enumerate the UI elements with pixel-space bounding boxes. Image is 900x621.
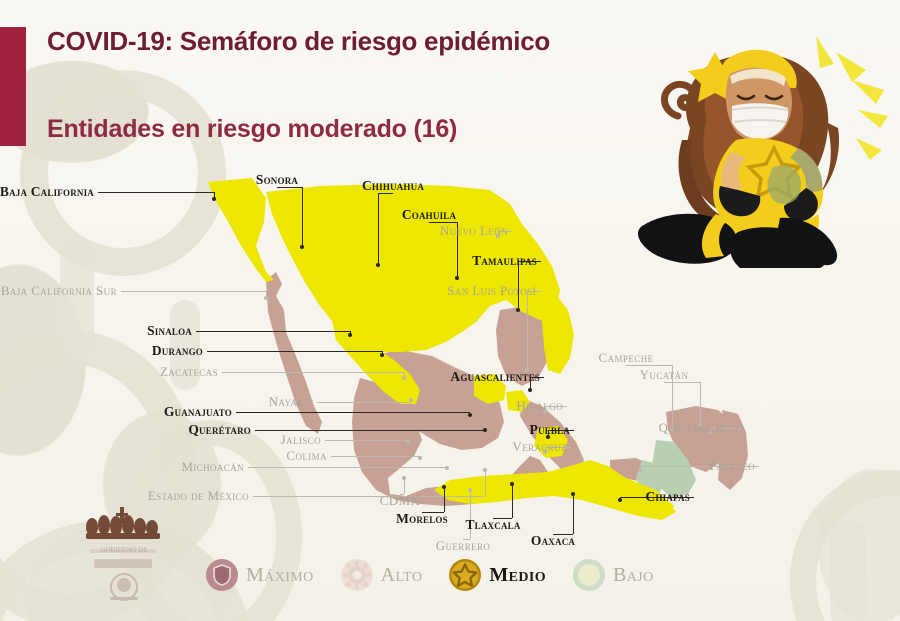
gear-icon bbox=[340, 558, 374, 592]
circle-icon bbox=[572, 558, 606, 592]
state-label-estado-de-mexico: Estado de México bbox=[148, 489, 249, 502]
star-icon bbox=[448, 558, 482, 592]
semaforo-legend: Máximo Alto Medio Bajo bbox=[205, 558, 654, 592]
state-label-nayarit: Nayarit bbox=[269, 395, 313, 408]
state-label-yucatan: Yucatán bbox=[640, 368, 689, 381]
state-label-baja-california-sur: Baja California Sur bbox=[1, 284, 117, 297]
state-label-oaxaca: Oaxaca bbox=[531, 534, 575, 548]
state-label-nuevo-leon: Nuevo León bbox=[440, 224, 508, 237]
state-label-cdmx: CDMX bbox=[380, 494, 421, 507]
legend-label-alto: Alto bbox=[381, 564, 423, 587]
shield-icon bbox=[205, 558, 239, 592]
legend-label-maximo: Máximo bbox=[246, 564, 314, 587]
state-label-baja-california: Baja California bbox=[0, 185, 94, 199]
state-label-puebla: Puebla bbox=[530, 423, 570, 437]
state-label-michoacan: Michoacán bbox=[181, 460, 244, 473]
state-label-jalisco: Jalisco bbox=[281, 433, 321, 446]
legend-item-alto[interactable]: Alto bbox=[340, 558, 423, 592]
state-label-sinaloa: Sinaloa bbox=[147, 324, 192, 338]
state-label-tlaxcala: Tlaxcala bbox=[465, 518, 520, 532]
left-accent-bar bbox=[0, 27, 26, 146]
legend-item-medio[interactable]: Medio bbox=[448, 558, 546, 592]
state-label-guerrero: Guerrero bbox=[436, 539, 491, 552]
page-title: COVID-19: Semáforo de riesgo epidémico bbox=[47, 26, 550, 57]
state-label-morelos: Morelos bbox=[396, 512, 448, 526]
legend-label-bajo: Bajo bbox=[613, 564, 654, 587]
state-label-veracruz: Veracruz bbox=[512, 440, 567, 453]
svg-text:GOBIERNO DE: GOBIERNO DE bbox=[100, 546, 147, 554]
state-label-san-luis-potosi: San Luis Potosí bbox=[447, 284, 536, 297]
state-label-aguascalientes: Aguascalientes bbox=[450, 370, 540, 384]
page-subtitle: Entidades en riesgo moderado (16) bbox=[47, 115, 457, 144]
susana-distancia-character-illustration bbox=[620, 18, 890, 268]
state-label-colima: Colima bbox=[286, 449, 327, 462]
state-label-chihuahua: Chihuahua bbox=[362, 179, 424, 193]
state-label-tamaulipas: Tamaulipas bbox=[472, 254, 537, 268]
state-label-chiapas: Chiapas bbox=[646, 490, 691, 504]
state-label-durango: Durango bbox=[152, 344, 203, 358]
state-label-quintana-roo: Quintana Roo bbox=[659, 421, 738, 434]
state-label-zacatecas: Zacatecas bbox=[160, 365, 218, 378]
legend-item-bajo[interactable]: Bajo bbox=[572, 558, 654, 592]
state-label-guanajuato: Guanajuato bbox=[164, 405, 232, 419]
state-label-campeche: Campeche bbox=[599, 351, 654, 364]
state-label-coahuila: Coahuila bbox=[402, 208, 456, 222]
state-label-tabasco: Tabasco bbox=[708, 459, 755, 472]
legend-label-medio: Medio bbox=[489, 564, 546, 587]
state-label-sonora: Sonora bbox=[256, 173, 298, 187]
state-label-hidalgo: Hidalgo bbox=[516, 399, 563, 412]
gobierno-de-mexico-logo: GOBIERNO DE bbox=[72, 505, 182, 605]
legend-item-maximo[interactable]: Máximo bbox=[205, 558, 314, 592]
state-label-queretaro: Querétaro bbox=[188, 423, 251, 437]
